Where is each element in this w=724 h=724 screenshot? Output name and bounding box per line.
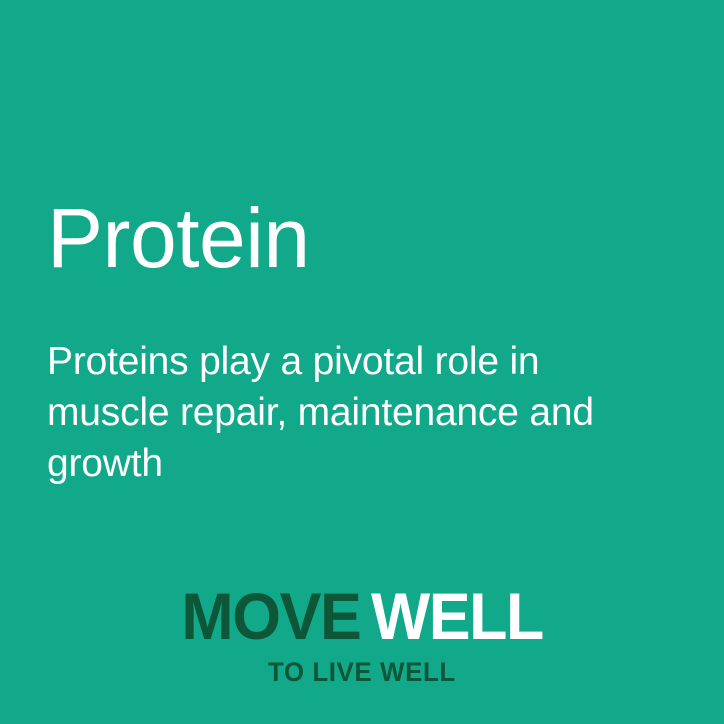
- logo-tagline: TO LIVE WELL: [268, 659, 456, 686]
- brand-logo: MOVE WELL TO LIVE WELL: [0, 583, 724, 686]
- logo-wordmark: MOVE WELL: [172, 583, 552, 649]
- logo-word-move: MOVE: [181, 583, 360, 649]
- page-title: Protein: [47, 196, 647, 280]
- promo-card: Protein Proteins play a pivotal role in …: [0, 0, 724, 724]
- description-text: Proteins play a pivotal role in muscle r…: [47, 280, 637, 489]
- logo-word-well: WELL: [371, 583, 543, 649]
- content-block: Protein Proteins play a pivotal role in …: [47, 196, 647, 489]
